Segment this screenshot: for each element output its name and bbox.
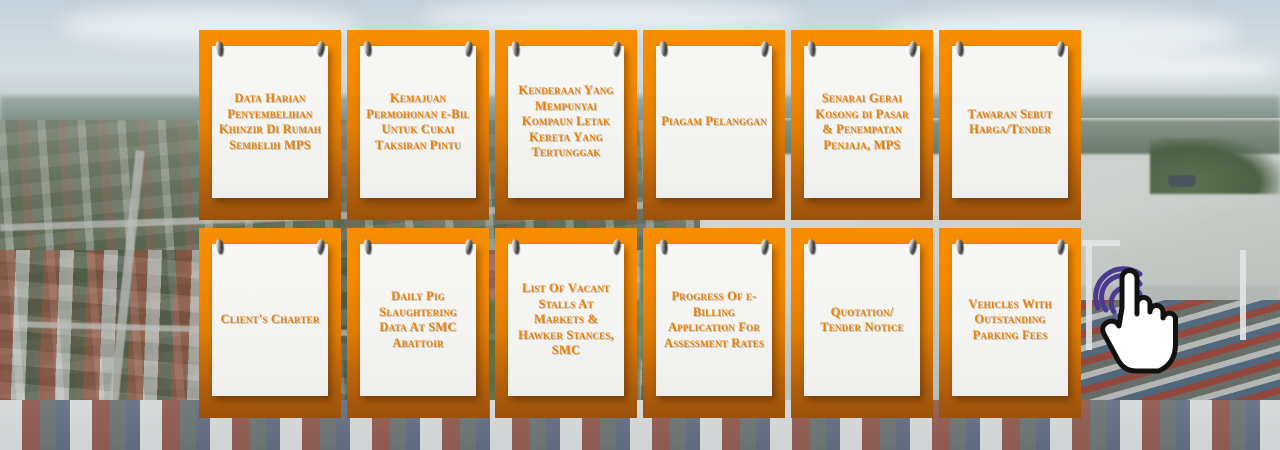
poster-card[interactable]: Kemajuan Permohonan e-Bil Untuk Cukai Ta… (360, 46, 476, 198)
poster-card[interactable]: Client's Charter (212, 244, 328, 396)
services-tile-grid: Data Harian Penyembelihan Khinzir Di Rum… (199, 30, 1081, 418)
pushpin-icon (659, 41, 668, 57)
tile-label: Kenderaan Yang Mempunyai Kompaun Letak K… (513, 83, 619, 161)
pushpin-icon (215, 239, 224, 255)
pushpin-icon (1056, 239, 1065, 255)
service-tile[interactable]: Quotation/ Tender Notice (791, 228, 933, 418)
tile-label: Data Harian Penyembelihan Khinzir Di Rum… (217, 91, 323, 153)
service-tile[interactable]: Senarai Gerai Kosong di Pasar & Penempat… (791, 30, 933, 220)
service-tile[interactable]: Tawaran Sebut Harga/Tender (939, 30, 1081, 220)
service-tile[interactable]: Progress Of e-Billing Application For As… (643, 228, 785, 418)
pushpin-icon (760, 239, 769, 255)
tile-row-1: Data Harian Penyembelihan Khinzir Di Rum… (199, 30, 1081, 220)
pushpin-icon (464, 41, 473, 57)
poster-card[interactable]: Quotation/ Tender Notice (804, 244, 920, 396)
cloud (420, 0, 800, 34)
poster-card[interactable]: Senarai Gerai Kosong di Pasar & Penempat… (804, 46, 920, 198)
port-crane (1240, 250, 1246, 340)
tile-label: Piagam Pelanggan (661, 114, 767, 130)
tile-label: Tawaran Sebut Harga/Tender (957, 107, 1063, 138)
pushpin-icon (612, 41, 621, 57)
poster-card[interactable]: Data Harian Penyembelihan Khinzir Di Rum… (212, 46, 328, 198)
pushpin-icon (807, 41, 816, 57)
pushpin-icon (464, 239, 473, 255)
poster-card[interactable]: List Of Vacant Stalls At Markets & Hawke… (508, 244, 624, 396)
pushpin-icon (316, 41, 325, 57)
tile-label: Client's Charter (220, 312, 319, 328)
pushpin-icon (908, 41, 917, 57)
tile-label: Senarai Gerai Kosong di Pasar & Penempat… (809, 91, 915, 153)
service-tile[interactable]: Piagam Pelanggan (643, 30, 785, 220)
tile-label: Progress Of e-Billing Application For As… (661, 289, 767, 351)
poster-card[interactable]: Tawaran Sebut Harga/Tender (952, 46, 1068, 198)
tile-label: List Of Vacant Stalls At Markets & Hawke… (513, 281, 619, 359)
service-tile[interactable]: Kemajuan Permohonan e-Bil Untuk Cukai Ta… (347, 30, 489, 220)
pushpin-icon (612, 239, 621, 255)
poster-card[interactable]: Daily Pig Slaughtering Data At SMC Abatt… (360, 244, 476, 396)
tile-label: Kemajuan Permohonan e-Bil Untuk Cukai Ta… (365, 91, 471, 153)
pushpin-icon (215, 41, 224, 57)
pushpin-icon (659, 239, 668, 255)
service-tile[interactable]: Vehicles With Outstanding Parking Fees (939, 228, 1081, 418)
tile-label: Daily Pig Slaughtering Data At SMC Abatt… (365, 289, 471, 351)
service-tile[interactable]: Kenderaan Yang Mempunyai Kompaun Letak K… (495, 30, 637, 220)
poster-card[interactable]: Kenderaan Yang Mempunyai Kompaun Letak K… (508, 46, 624, 198)
poster-card[interactable]: Vehicles With Outstanding Parking Fees (952, 244, 1068, 396)
service-tile[interactable]: List Of Vacant Stalls At Markets & Hawke… (495, 228, 637, 418)
service-tile[interactable]: Daily Pig Slaughtering Data At SMC Abatt… (347, 228, 489, 418)
pushpin-icon (363, 239, 372, 255)
pushpin-icon (760, 41, 769, 57)
pushpin-icon (511, 239, 520, 255)
poster-card[interactable]: Piagam Pelanggan (656, 46, 772, 198)
service-tile[interactable]: Client's Charter (199, 228, 341, 418)
tile-label: Quotation/ Tender Notice (809, 305, 915, 336)
boat (1168, 175, 1196, 187)
tile-label: Vehicles With Outstanding Parking Fees (957, 297, 1063, 344)
pushpin-icon (363, 41, 372, 57)
pushpin-icon (955, 41, 964, 57)
pushpin-icon (807, 239, 816, 255)
service-tile[interactable]: Data Harian Penyembelihan Khinzir Di Rum… (199, 30, 341, 220)
poster-card[interactable]: Progress Of e-Billing Application For As… (656, 244, 772, 396)
tile-row-2: Client's Charter Daily Pig Slaughtering … (199, 228, 1081, 418)
pushpin-icon (908, 239, 917, 255)
port-crane (1086, 240, 1092, 350)
pushpin-icon (1056, 41, 1065, 57)
pushpin-icon (955, 239, 964, 255)
pushpin-icon (316, 239, 325, 255)
page-stage: Data Harian Penyembelihan Khinzir Di Rum… (0, 0, 1280, 450)
pushpin-icon (511, 41, 520, 57)
